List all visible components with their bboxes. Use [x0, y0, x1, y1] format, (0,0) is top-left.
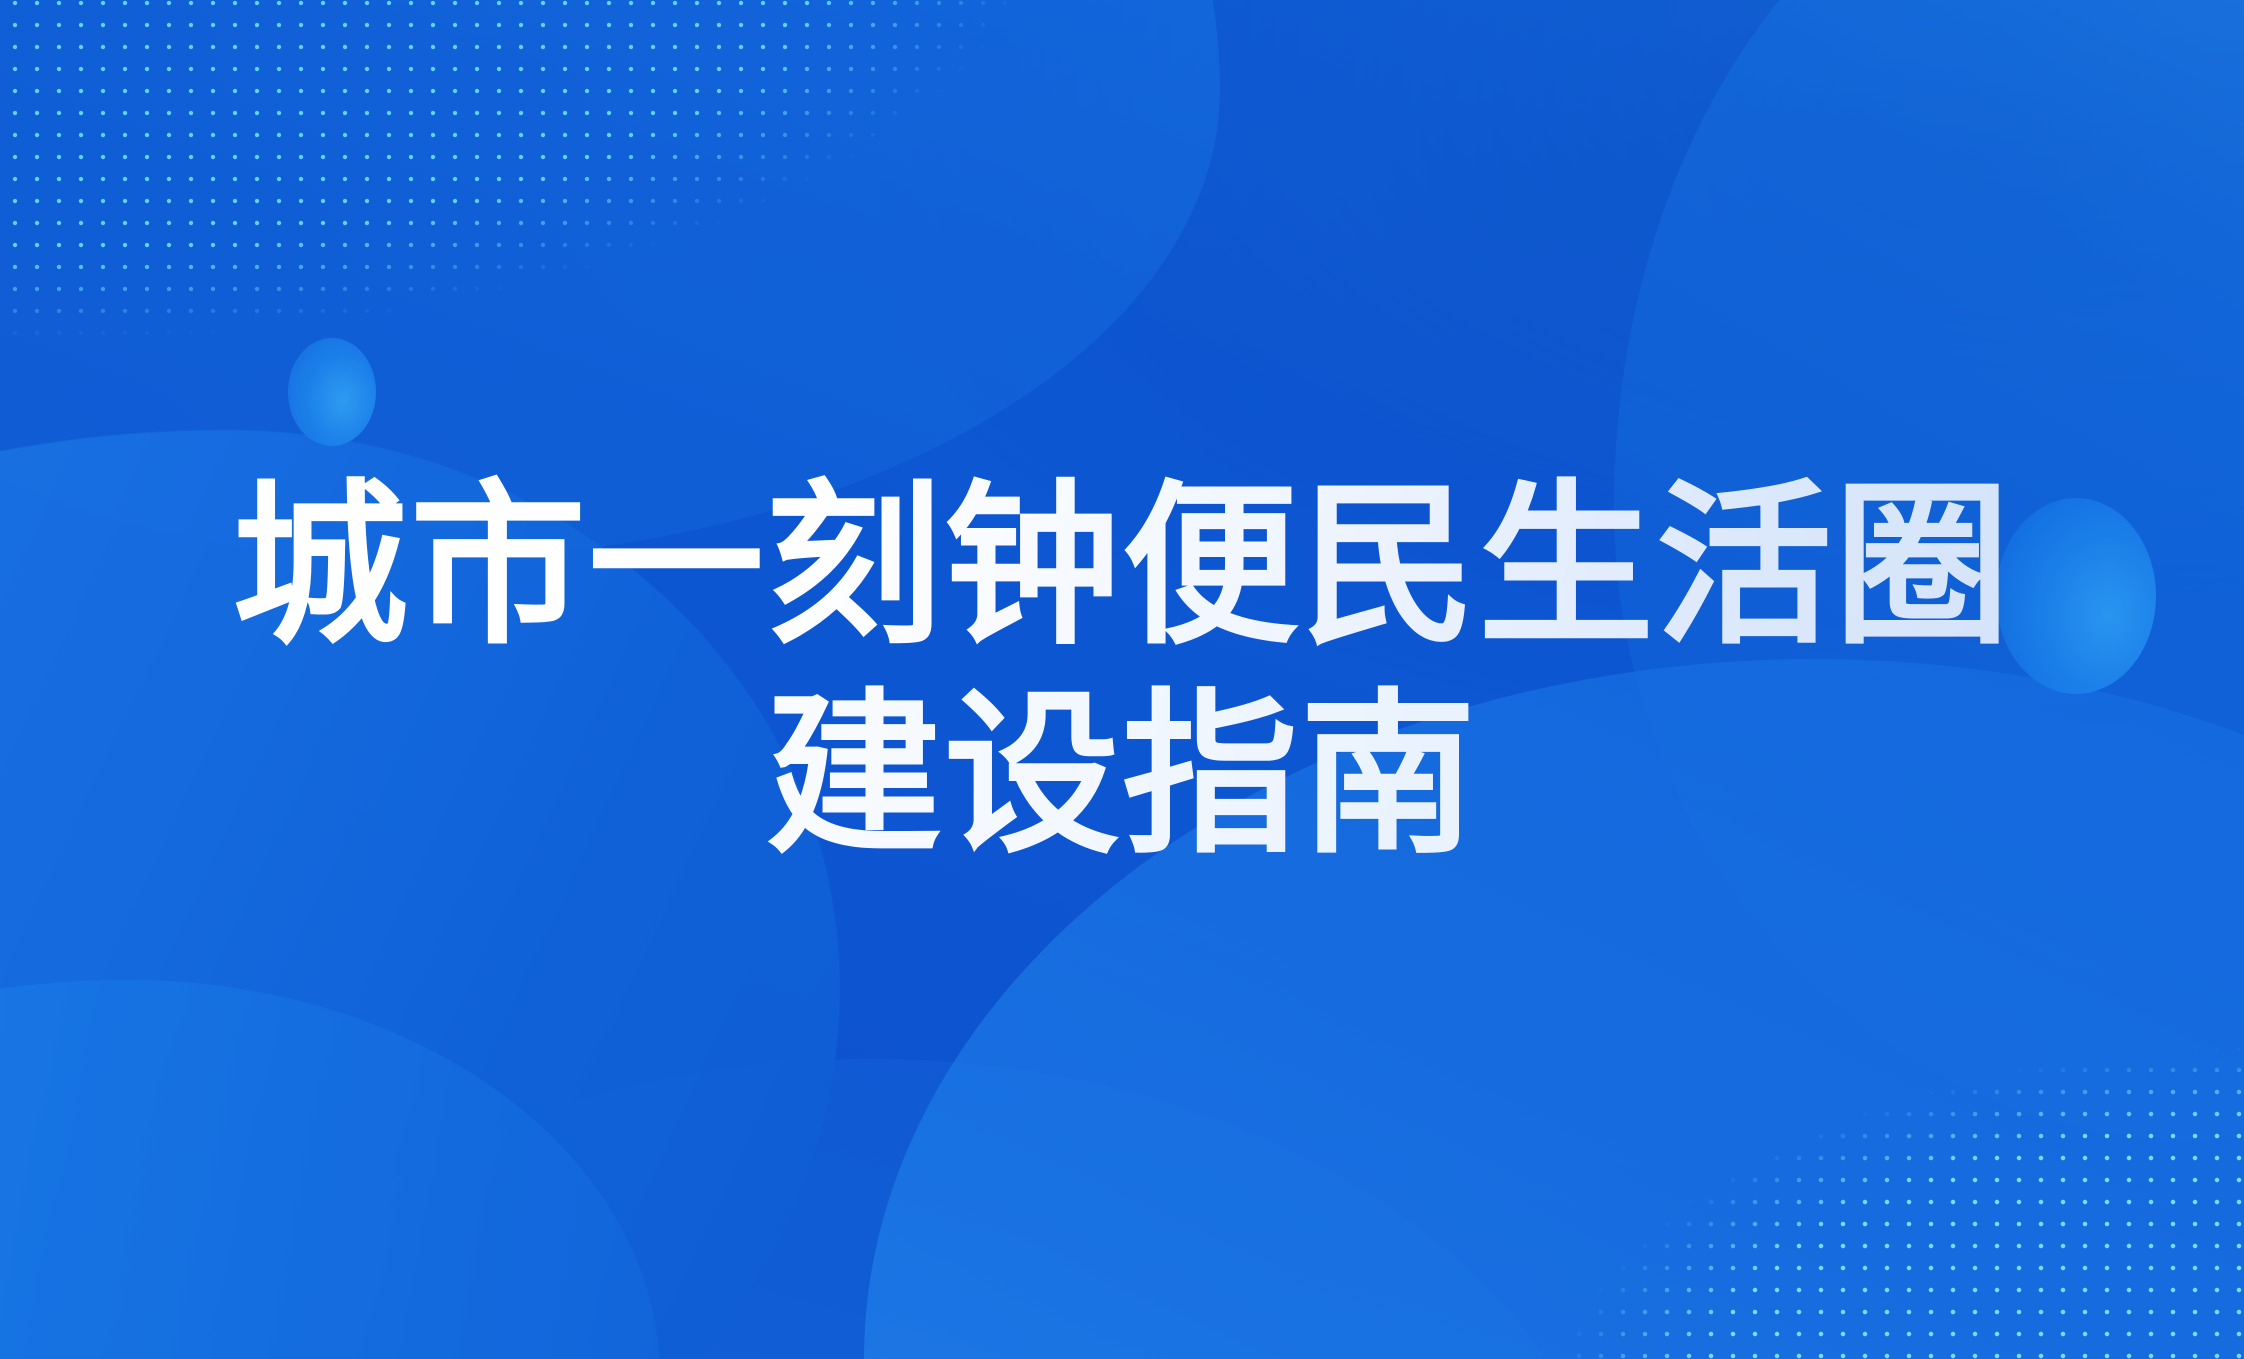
- halftone-dots-top-left-icon: [0, 0, 1100, 510]
- banner-poster: 城市一刻钟便民生活圈 建设指南: [0, 0, 2244, 1359]
- halftone-dots-bottom-right-icon: [1524, 949, 2244, 1359]
- title-line-secondary: 建设指南: [0, 671, 2244, 880]
- page-title: 城市一刻钟便民生活圈 建设指南: [0, 462, 2244, 881]
- title-line-primary: 城市一刻钟便民生活圈: [0, 462, 2244, 671]
